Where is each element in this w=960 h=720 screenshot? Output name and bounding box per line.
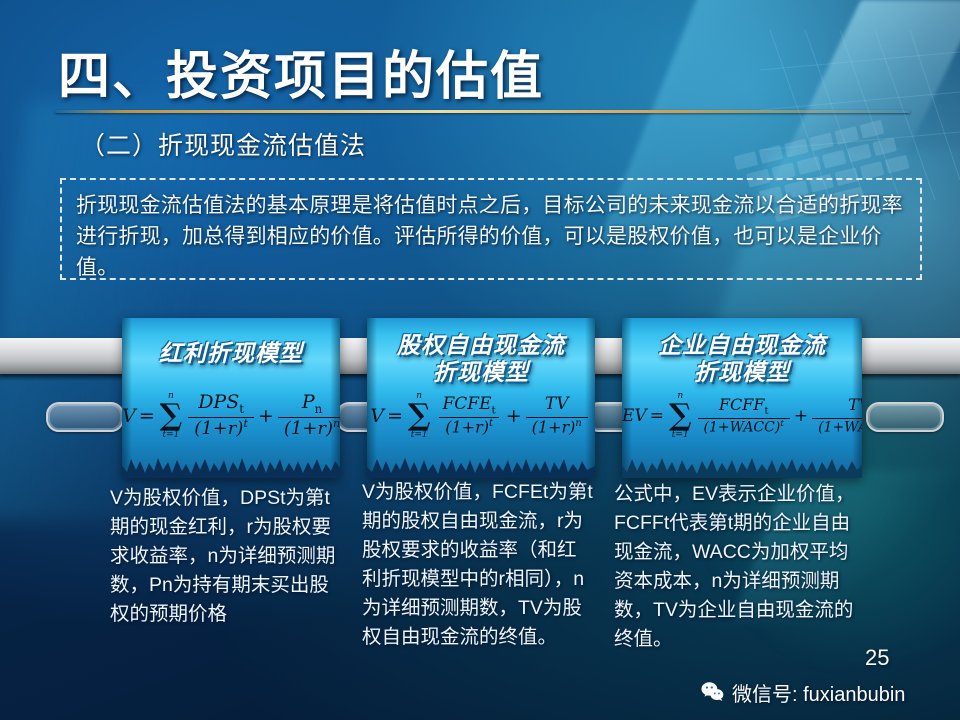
term2-numerator: TV	[848, 395, 862, 414]
term2-den-sup: n	[575, 418, 581, 429]
model-description-3: 公式中，EV表示企业价值，FCFFt代表第t期的企业自由现金流，WACC为加权平…	[614, 480, 864, 654]
term1-den-sup: t	[243, 417, 247, 430]
term2-numerator: P	[302, 391, 315, 413]
gold-divider	[55, 110, 910, 113]
term1-den-sup: t	[489, 418, 493, 429]
term1-numerator: DPS	[198, 391, 239, 413]
term1-numerator: FCFF	[719, 395, 765, 414]
term1-denominator: (1+WACC)	[704, 420, 781, 436]
model-description-1: V为股权价值，DPSt为第t期的现金红利，r为股权要求收益率，n为详细预测期数，…	[110, 484, 342, 629]
model-pipeline-band: 红利折现模型 V = n ∑ t=1 DPSt (1+r)t +	[0, 318, 960, 483]
term2-numerator: TV	[545, 394, 569, 414]
formula-lhs: V	[122, 405, 136, 427]
model-formula-2: V = n ∑ t=1 FCFEt (1+r)t + TV (1+r)n	[367, 392, 595, 440]
model-title-2-line1: 股权自由现金流	[367, 332, 595, 359]
formula-plus: +	[506, 405, 522, 427]
cylinder-jagged-edge	[122, 450, 340, 478]
term2-num-sub: n	[315, 402, 323, 416]
term1-denominator: (1+r)	[194, 418, 243, 439]
wechat-label: 微信号: fuxianbubin	[732, 678, 905, 707]
model-title-3: 企业自由现金流 折现模型	[622, 332, 862, 386]
formula-term-2: Pn (1+r)n	[278, 392, 340, 439]
section-subtitle: （二）折现现金流估值法	[80, 126, 366, 162]
formula-term-1: FCFEt (1+r)t	[436, 395, 501, 436]
model-title-2-line2: 折现模型	[367, 359, 595, 386]
term1-num-sub: t	[764, 407, 768, 418]
page-title: 四、投资项目的估值	[58, 34, 544, 109]
summation-symbol: n ∑ t=1	[160, 392, 183, 440]
term2-den-sup: n	[333, 417, 340, 430]
model-formula-3: EV = n ∑ t=1 FCFFt (1+WACC)t + TV (1+WAC…	[622, 392, 862, 440]
term1-num-sub: t	[239, 402, 244, 416]
term1-num-sub: t	[492, 405, 496, 417]
model-formula-1: V = n ∑ t=1 DPSt (1+r)t + Pn (1+r)n	[122, 392, 340, 440]
formula-term-1: FCFFt (1+WACC)t	[698, 396, 790, 435]
formula-plus: +	[794, 406, 808, 426]
model-title-2: 股权自由现金流 折现模型	[367, 332, 595, 386]
sigma-lower-limit: t=1	[411, 431, 428, 440]
formula-lhs: V	[370, 405, 384, 427]
formula-term-1: DPSt (1+r)t	[188, 392, 254, 439]
intro-paragraph: 折现现金流估值法的基本原理是将估值时点之后，目标公司的未来现金流以合适的折现率进…	[76, 190, 906, 283]
model-title-3-line2: 折现模型	[622, 359, 862, 386]
formula-plus: +	[258, 405, 274, 427]
summation-symbol: n ∑ t=1	[408, 392, 431, 440]
pipe-connector-1	[46, 402, 124, 432]
wechat-footer: 微信号: fuxianbubin	[700, 678, 905, 707]
sigma-lower-limit: t=1	[163, 431, 180, 440]
term1-numerator: FCFE	[442, 394, 491, 414]
slide-canvas: 四、投资项目的估值 （二）折现现金流估值法 折现现金流估值法的基本原理是将估值时…	[0, 0, 960, 720]
cylinder-jagged-edge	[367, 450, 595, 478]
formula-lhs: EV	[622, 406, 647, 426]
sigma-lower-limit: t=1	[672, 431, 689, 440]
model-title-3-line1: 企业自由现金流	[622, 332, 862, 359]
cylinder-jagged-edge	[622, 450, 862, 478]
term2-denominator: (1+r)	[532, 417, 576, 436]
model-cylinder-2[interactable]: 股权自由现金流 折现模型 V = n ∑ t=1 FCFEt (1+r)t	[367, 318, 595, 478]
formula-equals: =	[139, 405, 155, 427]
term2-denominator: (1+r)	[284, 418, 333, 439]
summation-symbol: n ∑ t=1	[669, 392, 692, 440]
term1-denominator: (1+r)	[445, 417, 489, 436]
term2-denominator: (1+WACC)	[818, 420, 862, 436]
model-title-1: 红利折现模型	[122, 340, 340, 367]
formula-term-2: TV (1+r)n	[526, 395, 588, 436]
term1-den-sup: t	[780, 419, 784, 429]
model-cylinder-1[interactable]: 红利折现模型 V = n ∑ t=1 DPSt (1+r)t +	[122, 318, 340, 478]
formula-equals: =	[387, 405, 403, 427]
model-description-2: V为股权价值，FCFEt为第t期的股权自由现金流，r为股权要求的收益率（和红利折…	[362, 478, 594, 652]
model-cylinder-3[interactable]: 企业自由现金流 折现模型 EV = n ∑ t=1 FCFFt (1+WACC)…	[622, 318, 862, 478]
formula-term-2: TV (1+WACC)n	[812, 396, 862, 435]
wechat-icon	[700, 680, 725, 705]
intro-textbox: 折现现金流估值法的基本原理是将估值时点之后，目标公司的未来现金流以合适的折现率进…	[60, 178, 922, 280]
page-number: 25	[865, 645, 889, 671]
pipe-connector-4	[866, 402, 944, 432]
formula-equals: =	[650, 406, 664, 426]
